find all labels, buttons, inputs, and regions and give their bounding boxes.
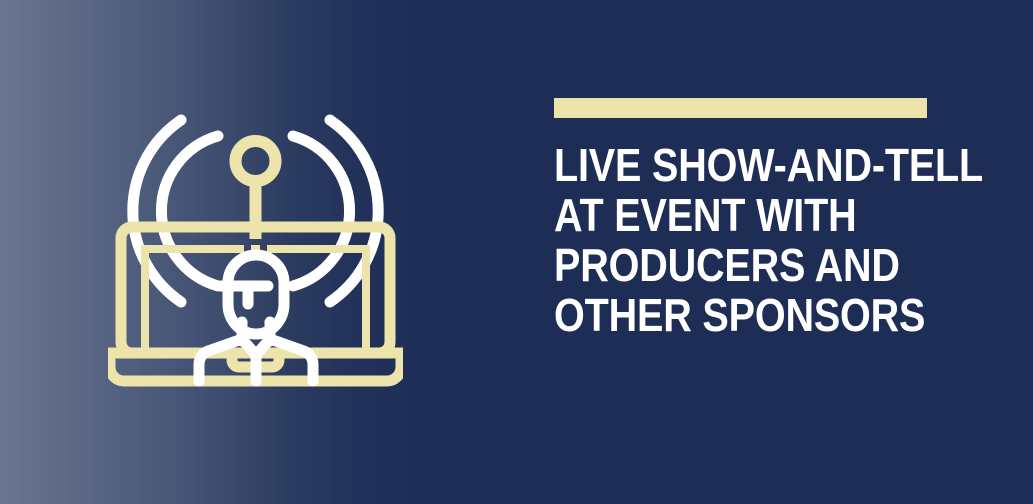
accent-bar <box>554 98 927 118</box>
headline-line-3: PRODUCERS AND <box>554 240 924 290</box>
page-title: LIVE SHOW-AND-TELL AT EVENT WITH PRODUCE… <box>554 140 924 340</box>
antenna-ring <box>236 141 276 181</box>
person-head <box>228 255 284 334</box>
headline-line-1: LIVE SHOW-AND-TELL <box>554 140 924 190</box>
promo-card: LIVE SHOW-AND-TELL AT EVENT WITH PRODUCE… <box>0 0 1033 504</box>
headline-line-4: OTHER SPONSORS <box>554 290 924 340</box>
person-on-screen <box>199 255 313 381</box>
headline-line-2: AT EVENT WITH <box>554 190 924 240</box>
text-block: LIVE SHOW-AND-TELL AT EVENT WITH PRODUCE… <box>554 98 984 340</box>
live-broadcast-laptop-icon <box>108 108 403 403</box>
